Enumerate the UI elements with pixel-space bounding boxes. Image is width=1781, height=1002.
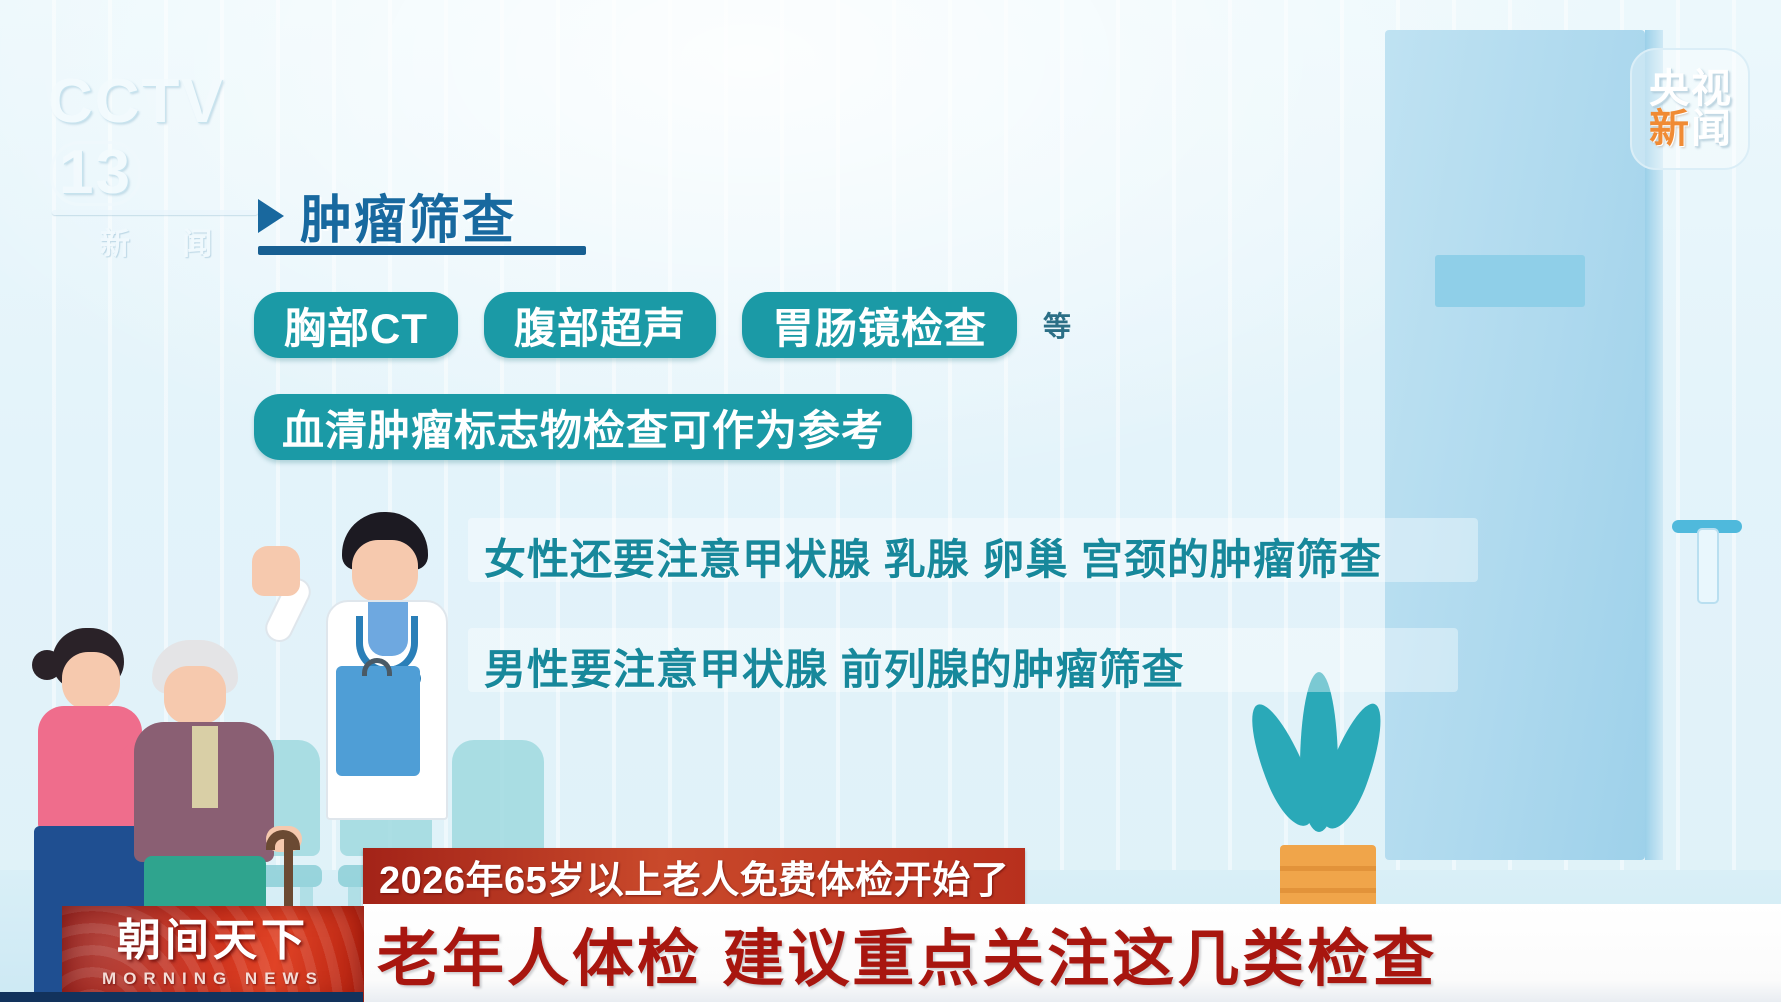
section-heading-text: 肿瘤筛查 <box>300 178 516 253</box>
program-name-cn: 朝间天下 <box>117 919 309 963</box>
headline-bar: 老年人体检 建议重点关注这几类检查 <box>363 904 1781 1002</box>
cctv-wordmark: CCTV <box>48 67 225 136</box>
triangle-bullet-icon <box>258 199 284 233</box>
heading-underline <box>258 246 586 255</box>
program-logo: 朝间天下 MORNING NEWS <box>62 906 364 1002</box>
pill-abdominal-ultrasound[interactable]: 腹部超声 <box>484 292 716 358</box>
logo-char-yang: 央 <box>1649 69 1689 109</box>
topic-banner-text: 2026年65岁以上老人免费体检开始了 <box>379 849 1009 904</box>
cctv-underbar <box>52 210 258 215</box>
plant-pot-band <box>1280 866 1376 871</box>
door-window <box>1435 255 1585 307</box>
program-name-en: MORNING NEWS <box>102 969 324 989</box>
logo-char-wen: 闻 <box>1691 109 1731 149</box>
row1-suffix-deng: 等 <box>1043 305 1071 345</box>
logo-char-xin: 新 <box>1649 109 1689 149</box>
headline-text: 老年人体检 建议重点关注这几类检查 <box>377 908 1437 998</box>
cctv-news-app-logo: 央 视 新 闻 <box>1630 48 1750 170</box>
cctv-subtitle: 新 闻 <box>48 219 278 263</box>
screening-item-row-1: 胸部CT 腹部超声 胃肠镜检查 等 <box>254 292 1071 358</box>
cctv-channel-number: 13 <box>50 141 141 206</box>
bottom-blue-strip <box>0 992 363 1002</box>
screening-item-row-2: 血清肿瘤标志物检查可作为参考 <box>254 394 912 460</box>
cctv13-channel-logo: CCTV13 新 闻 <box>48 66 278 182</box>
logo-char-shi: 视 <box>1691 69 1731 109</box>
section-heading: 肿瘤筛查 <box>258 178 516 253</box>
door-lock-plate <box>1697 528 1719 604</box>
plant-pot-band <box>1280 888 1376 893</box>
note-female: 女性还要注意甲状腺 乳腺 卵巢 宫颈的肿瘤筛查 <box>484 526 1382 587</box>
topic-banner: 2026年65岁以上老人免费体检开始了 <box>363 848 1025 904</box>
pill-serum-tumor-marker[interactable]: 血清肿瘤标志物检查可作为参考 <box>254 394 912 460</box>
broadcast-screenshot: CCTV13 新 闻 央 视 新 闻 肿瘤筛查 胸部CT 腹部超声 胃肠镜检查 … <box>0 0 1781 1002</box>
pill-chest-ct[interactable]: 胸部CT <box>254 292 458 358</box>
door <box>1385 30 1645 860</box>
plant-pot <box>1280 845 1376 911</box>
note-male: 男性要注意甲状腺 前列腺的肿瘤筛查 <box>484 636 1185 697</box>
pill-gastroscopy[interactable]: 胃肠镜检查 <box>742 292 1017 358</box>
